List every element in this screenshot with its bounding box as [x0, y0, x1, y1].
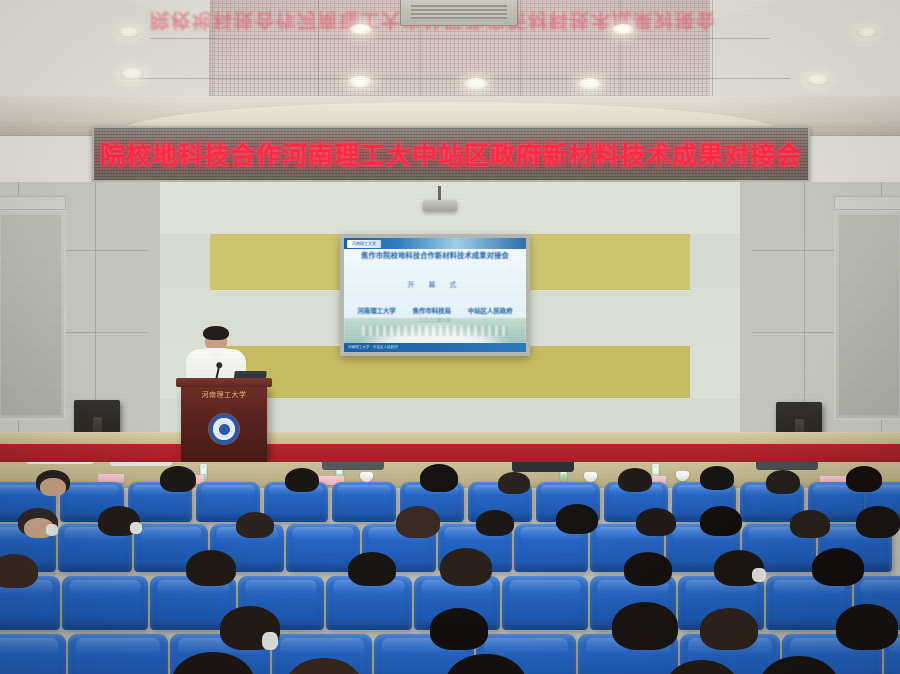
face-mask — [46, 524, 58, 536]
attendee-hair — [766, 470, 800, 494]
ceiling-downlight — [578, 78, 602, 90]
attendee-body — [26, 462, 94, 464]
speaking-podium: 河南理工大学 — [181, 384, 267, 462]
attendee-hair — [636, 508, 676, 536]
attendee-hair — [700, 608, 758, 650]
attendee-hair — [856, 506, 900, 538]
slide-university-logo: 河南理工大学 — [347, 240, 381, 248]
attendee-hair — [790, 510, 830, 538]
attendee-hair — [700, 466, 734, 490]
led-banner-text: 院校地科技合作河南理工大中站区政府新材料技术成果对接会 — [100, 136, 802, 172]
attendee-hair — [624, 552, 672, 586]
presenter-hair — [203, 326, 229, 340]
attendee-hair — [612, 602, 678, 650]
podium-nameplate: 河南理工大学 — [181, 390, 267, 400]
exit-door-left[interactable] — [0, 210, 66, 420]
attendee-hair — [430, 608, 488, 650]
attendee-body — [512, 462, 574, 472]
attendee-hair — [420, 464, 458, 492]
attendee-hair — [812, 548, 864, 586]
slide-organizers: 河南理工大学 焦作市科技局 中站区人民政府 — [344, 306, 526, 315]
auditorium-seat[interactable] — [62, 576, 148, 630]
door-header-left — [0, 196, 66, 210]
slide-footer-bar: 河南理工大学 · 中站区人民政府 — [344, 343, 526, 352]
slide-subtitle: 开 幕 式 — [344, 280, 526, 290]
attendee-hair — [186, 550, 236, 586]
podium-top-surface — [176, 378, 272, 387]
slide-organizer-3: 中站区人民政府 — [468, 306, 513, 315]
attendee-body — [756, 462, 818, 470]
attendee-hair — [236, 512, 274, 538]
face-mask — [262, 632, 278, 650]
attendee-hair — [846, 466, 882, 492]
ceiling-downlight — [856, 27, 878, 38]
slide-organizer-2: 焦作市科技局 — [413, 306, 451, 315]
attendee-hair — [440, 548, 492, 586]
ceiling-projector — [423, 200, 457, 211]
led-banner: 院校地科技合作河南理工大中站区政府新材料技术成果对接会 — [92, 126, 810, 182]
ceiling-downlight — [612, 24, 634, 35]
attendee-body — [110, 462, 172, 466]
slide-title: 焦作市院校地科技合作新材料技术成果对接会 — [344, 251, 526, 261]
conference-hall-photo: 院校地科技合作河南理工大中站区政府新材料技术成果对接会 — [0, 0, 900, 674]
attendee-hair — [618, 468, 652, 492]
ceiling-downlight — [464, 78, 488, 90]
slide-campus-image — [344, 318, 526, 344]
podium-emblem-icon — [209, 414, 239, 444]
attendee-hair — [348, 552, 396, 586]
attendee-head — [40, 478, 66, 496]
ceiling-air-vent — [400, 0, 518, 26]
exit-door-right[interactable] — [834, 210, 900, 420]
face-mask — [130, 522, 142, 534]
wall-accent-block — [690, 234, 745, 290]
ceiling-grid-line — [130, 78, 790, 79]
face-mask — [752, 568, 766, 582]
ceiling-downlight — [350, 24, 372, 35]
attendee-hair — [476, 510, 514, 536]
projection-screen: 河南理工大学 焦作市院校地科技合作新材料技术成果对接会 开 幕 式 河南理工大学… — [344, 238, 526, 352]
auditorium-seat[interactable] — [502, 576, 588, 630]
ceiling-grid-line — [150, 38, 770, 39]
wall-accent-block — [690, 346, 745, 398]
ceiling-downlight — [348, 76, 372, 88]
auditorium-seat[interactable] — [0, 634, 66, 674]
auditorium-seat[interactable] — [332, 482, 396, 522]
attendee-hair — [0, 554, 38, 588]
slide-organizer-1: 河南理工大学 — [357, 306, 395, 315]
attendee-hair — [836, 604, 898, 650]
slide-footer-text: 河南理工大学 · 中站区人民政府 — [344, 343, 526, 352]
attendee-body — [322, 462, 384, 470]
projection-screen-frame: 河南理工大学 焦作市院校地科技合作新材料技术成果对接会 开 幕 式 河南理工大学… — [340, 234, 530, 356]
attendee-hair — [700, 506, 742, 536]
attendee-hair — [396, 506, 440, 538]
attendee-hair — [285, 468, 319, 492]
attendee-hair — [160, 466, 196, 492]
ceiling-downlight — [120, 68, 144, 80]
door-header-right — [834, 196, 900, 210]
attendee-hair — [556, 504, 598, 534]
audience-area — [0, 462, 900, 674]
ceiling-downlight — [118, 27, 140, 38]
auditorium-seat[interactable] — [68, 634, 168, 674]
attendee-hair — [498, 472, 530, 494]
ceiling-downlight — [806, 74, 830, 86]
